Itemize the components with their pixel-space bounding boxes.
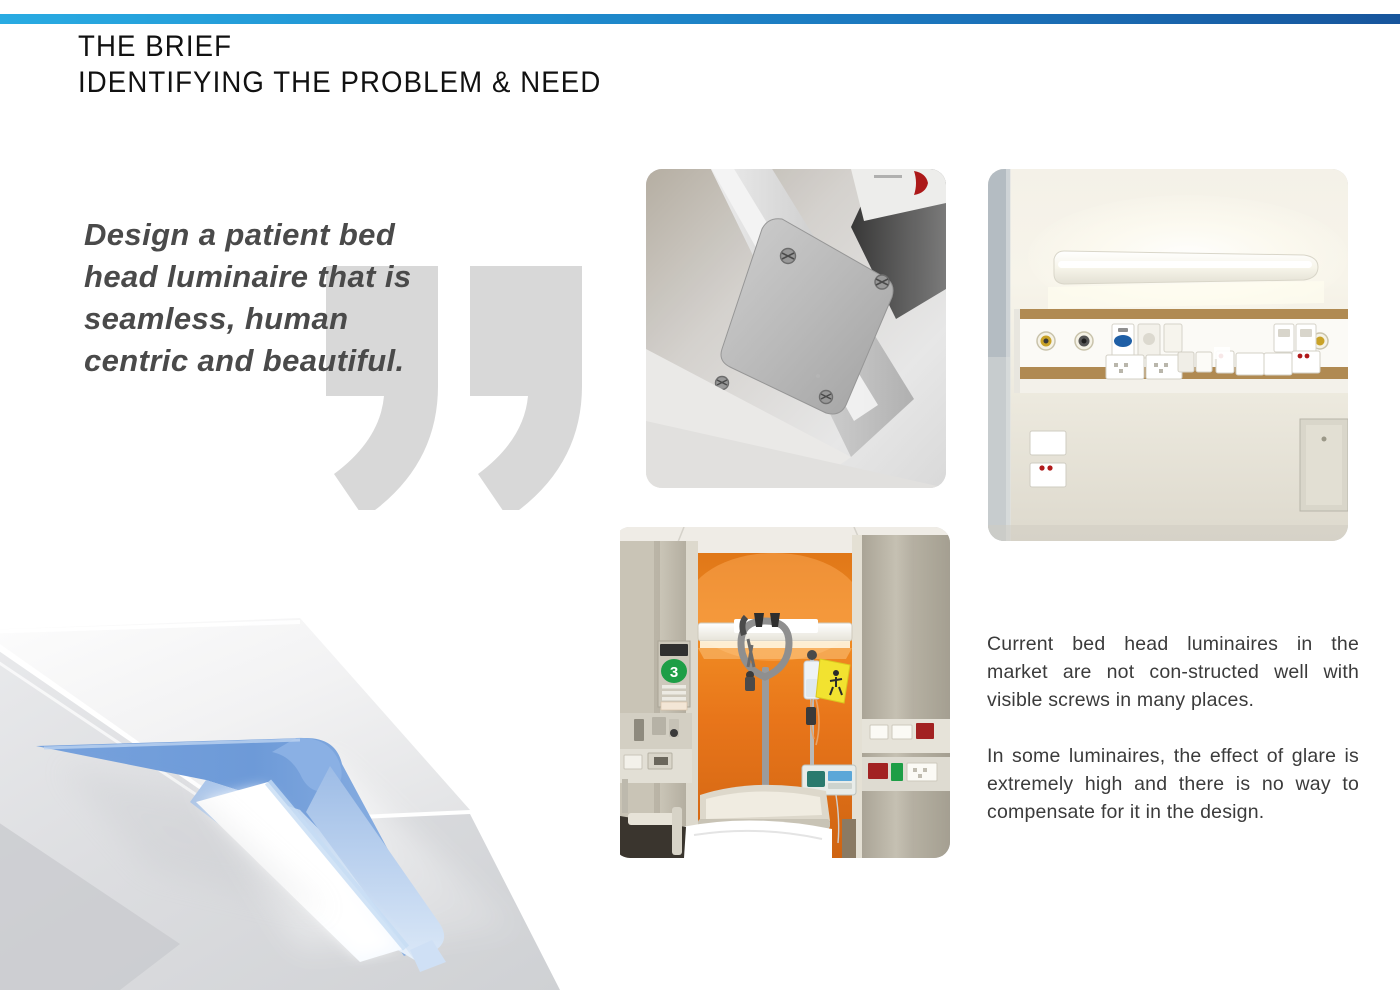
body-copy: Current bed head luminaires in the marke…: [987, 630, 1359, 826]
svg-text:3: 3: [670, 664, 678, 681]
page-title: THE BRIEF: [78, 32, 601, 62]
brief-quote: Design a patient bed head luminaire that…: [84, 214, 604, 382]
photo-bed-head-wall: [988, 169, 1348, 541]
body-paragraph-1: Current bed head luminaires in the marke…: [987, 630, 1359, 714]
page-subtitle: IDENTIFYING THE PROBLEM & NEED: [78, 68, 601, 98]
top-accent-bar-highlight: [0, 15, 1400, 18]
page-header: THE BRIEF IDENTIFYING THE PROBLEM & NEED: [78, 32, 647, 98]
quote-line-3: seamless, human: [84, 298, 604, 340]
quote-line-1: Design a patient bed: [84, 214, 604, 256]
luminaire-concept-render: [0, 510, 620, 990]
photo-patient-bay: 3: [614, 527, 950, 858]
photo-luminaire-end-cap: [646, 169, 946, 488]
quote-line-2: head luminaire that is: [84, 256, 604, 298]
quote-line-4: centric and beautiful.: [84, 340, 604, 382]
body-paragraph-2: In some luminaires, the effect of glare …: [987, 742, 1359, 826]
